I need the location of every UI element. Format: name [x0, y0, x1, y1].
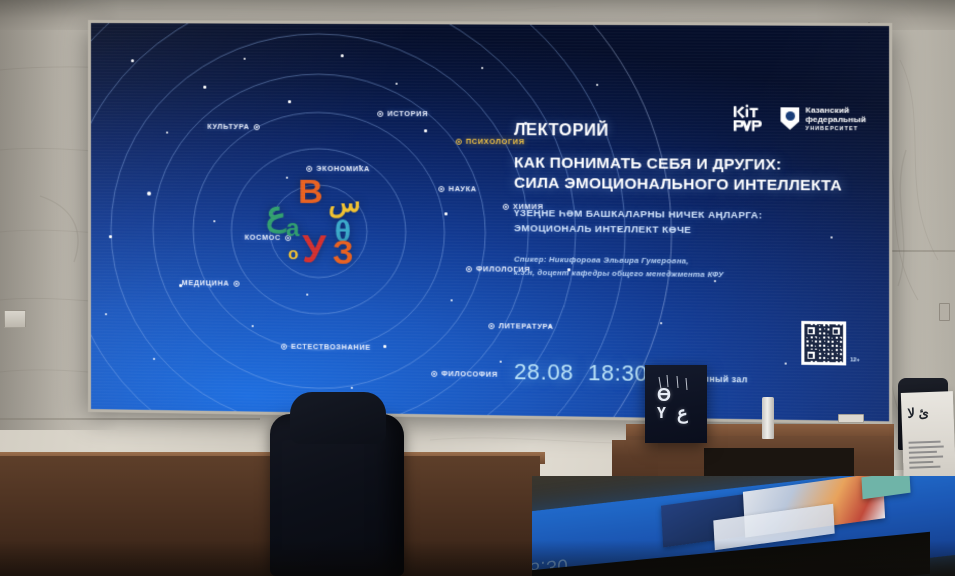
board-glyph-3: ع [677, 403, 688, 424]
wall-socket-left [4, 310, 26, 328]
chair-headrest [290, 392, 386, 444]
kfu-line2: федеральный [806, 115, 866, 125]
planet-dot-icon [466, 266, 472, 272]
floor-shadow [0, 540, 955, 576]
multiscript-logo: ВسعaθоУЗ [264, 172, 377, 282]
wall-plate-right [939, 303, 950, 321]
qr-block[interactable]: 12+ [801, 321, 860, 366]
subject-label-text: КУЛЬТУРА [207, 122, 249, 131]
subject-label-естествознание: ЕСТЕСТВОЗНАНИЕ [281, 342, 371, 352]
led-video-wall[interactable]: ИСТОРИЯКУЛЬТУРАПСИХОЛОГИЯЭКОНОМИКАНАУКАХ… [88, 20, 892, 424]
poster-speaker: Спикер: Никифорова Эльвира Гумеровна, к.… [514, 253, 887, 284]
subject-label-text: ЛИТЕРАТУРА [499, 321, 554, 331]
planet-dot-icon [306, 165, 312, 171]
logo-glyph-1: س [329, 189, 361, 215]
subject-label-text: НАУКА [449, 184, 477, 193]
photo-scene: ИСТОРИЯКУЛЬТУРАПСИХОЛОГИЯЭКОНОМИКАНАУКАХ… [0, 0, 955, 576]
screen-bezel: ИСТОРИЯКУЛЬТУРАПСИХОЛОГИЯЭКОНОМИКАНАУКАХ… [88, 20, 892, 424]
planet-dot-icon [438, 186, 444, 192]
subject-label-медицина: МЕДИЦИНА [182, 278, 240, 288]
subject-label-философия: ФИЛОСОФИЯ [431, 369, 498, 379]
event-when-row: 28.08 18:30 Выставочный зал [514, 359, 748, 389]
planet-dot-icon [254, 124, 260, 130]
subject-label-литература: ЛИТЕРАТУРА [488, 321, 553, 331]
event-date: 28.08 [514, 359, 574, 386]
kitap-glyph [732, 103, 763, 134]
qr-pattern [804, 324, 843, 362]
planet-dot-icon [456, 138, 462, 144]
planet-dot-icon [488, 323, 494, 329]
subject-label-наука: НАУКА [438, 184, 476, 193]
poster-title: КАК ПОНИМАТЬ СЕБЯ И ДРУГИХ: СИЛА ЭМОЦИОН… [514, 153, 887, 197]
subject-label-text: ФИЛОСОФИЯ [441, 369, 498, 379]
qr-code[interactable] [801, 321, 846, 366]
kfu-line1: Казанский [806, 105, 866, 115]
event-time: 18:30 [588, 360, 648, 387]
poster-subtitle: ҮЗЕҢНЕ ҺӘМ БАШКАЛАРНЫ НИЧЕК АҢЛАРГА: ЭМО… [514, 207, 887, 241]
logo-glyph-0: В [298, 175, 323, 209]
poster-text-block: ЛЕКТОРИЙ КАК ПОНИМАТЬ СЕБЯ И ДРУГИХ: СИЛ… [514, 122, 887, 284]
kfu-logo: Казанский федеральный УНИВЕРСИТЕТ [781, 105, 866, 132]
wall-seam-horizontal [0, 418, 260, 420]
planet-dot-icon [377, 110, 383, 116]
planet-dot-icon [503, 203, 509, 209]
logo-glyph-5: о [288, 245, 299, 262]
white-bottle [762, 397, 774, 439]
dark-display-board: Ө Ү ع [645, 365, 707, 443]
logo-glyph-7: З [333, 235, 354, 268]
planet-dot-icon [431, 370, 437, 376]
logo-glyph-2: ع [266, 197, 287, 231]
sponsor-logos: Казанский федеральный УНИВЕРСИТЕТ [732, 103, 866, 135]
screen-surface: ИСТОРИЯКУЛЬТУРАПСИХОЛОГИЯЭКОНОМИКАНАУКАХ… [91, 23, 889, 421]
poster-subtitle-line2: ЭМОЦИОНАЛЬ ИНТЕЛЛЕКТ КӨЧЕ [514, 222, 887, 241]
subject-label-text: ЕСТЕСТВОЗНАНИЕ [291, 342, 371, 352]
sign-glyphs: ئ لا [907, 405, 947, 419]
subject-label-text: МЕДИЦИНА [182, 278, 230, 288]
subject-label-культура: КУЛЬТУРА [207, 122, 259, 131]
board-strokes-icon [655, 375, 699, 397]
poster-title-line2: СИЛА ЭМОЦИОНАЛЬНОГО ИНТЕЛЛЕКТА [514, 174, 887, 198]
kitap-logo-icon [732, 103, 763, 134]
planet-dot-icon [234, 280, 240, 286]
kfu-shield-icon [781, 107, 800, 130]
board-glyph-2: Ү [657, 405, 666, 423]
small-box-on-counter [838, 414, 864, 423]
planet-dot-icon [281, 343, 287, 349]
logo-glyph-3: a [286, 217, 300, 241]
subject-label-история: ИСТОРИЯ [377, 109, 428, 118]
kfu-logo-text: Казанский федеральный УНИВЕРСИТЕТ [806, 105, 866, 132]
subject-label-text: ЭКОНОМИКА [316, 164, 370, 174]
subject-label-text: ИСТОРИЯ [387, 109, 428, 118]
age-rating-badge: 12+ [850, 357, 860, 363]
logo-glyph-6: У [302, 231, 326, 270]
kfu-line3: УНИВЕРСИТЕТ [806, 126, 866, 133]
